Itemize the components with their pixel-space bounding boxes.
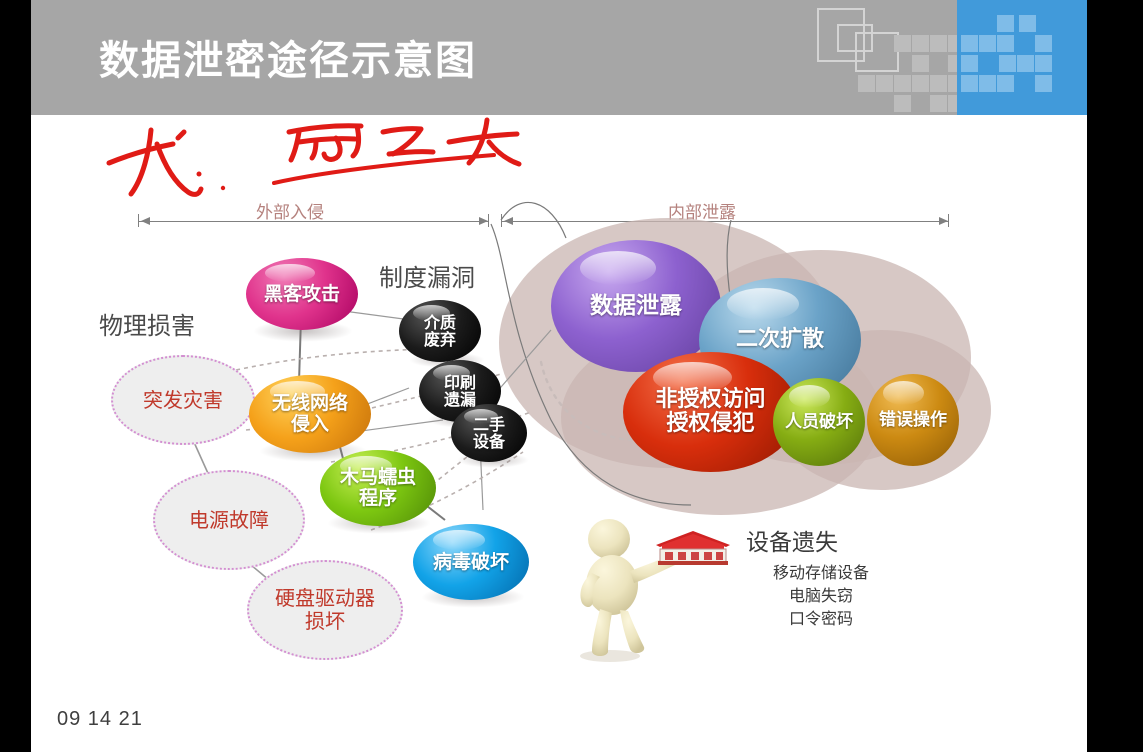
node-sudden-disaster-label: 突发灾害 [143, 389, 223, 412]
bubble-operation-error-label: 错误操作 [879, 411, 947, 429]
device-loss-group: 设备遗失 移动存储设备 电脑失窃 口令密码 [576, 505, 916, 665]
label-physical-damage: 物理损害 [99, 306, 195, 341]
bubble-print-leak-label: 印刷 遗漏 [444, 374, 476, 409]
node-power-failure[interactable]: 电源故障 [153, 470, 305, 570]
device-loss-item: 电脑失窃 [746, 584, 896, 607]
bubble-hacker-attack[interactable]: 黑客攻击 [246, 258, 358, 330]
bubble-trojan-worm-label: 木马蠕虫 程序 [340, 467, 416, 508]
bubble-media-disposal[interactable]: 介质 废弃 [399, 300, 481, 362]
slide-canvas: 数据泄密途径示意图 [31, 0, 1087, 752]
bubble-hacker-attack-label: 黑客攻击 [264, 284, 340, 305]
bubble-operation-error[interactable]: 错误操作 [867, 374, 959, 466]
bubble-personnel-sabotage-label: 人员破坏 [785, 413, 853, 431]
screen: 数据泄密途径示意图 [0, 0, 1143, 752]
node-hdd-failure-label: 硬盘驱动器 损坏 [275, 587, 375, 633]
node-sudden-disaster[interactable]: 突发灾害 [111, 355, 255, 445]
bubble-unauthorized-access-label: 非授权访问 授权侵犯 [655, 388, 765, 436]
bubble-second-hand-equipment-label: 二手 设备 [473, 416, 505, 451]
device-loss-title: 设备遗失 [746, 523, 838, 557]
bubble-media-disposal-label: 介质 废弃 [424, 314, 456, 349]
footer-timestamp: 09 14 21 [57, 708, 143, 731]
device-loss-item: 移动存储设备 [746, 561, 896, 584]
bubble-virus-damage[interactable]: 病毒破坏 [413, 524, 529, 600]
device-loss-item: 口令密码 [746, 607, 896, 630]
bubble-unauthorized-access[interactable]: 非授权访问 授权侵犯 [623, 352, 798, 472]
bubble-virus-damage-label: 病毒破坏 [433, 552, 509, 573]
bubble-personnel-sabotage[interactable]: 人员破坏 [773, 378, 865, 466]
bubble-secondary-spread-label: 二次扩散 [736, 328, 824, 352]
device-loss-list: 移动存储设备 电脑失窃 口令密码 [746, 561, 896, 631]
node-power-failure-label: 电源故障 [189, 509, 269, 532]
bubble-trojan-worm[interactable]: 木马蠕虫 程序 [320, 450, 436, 526]
label-policy-loophole: 制度漏洞 [379, 258, 475, 293]
bubble-wireless-intrusion[interactable]: 无线网络 侵入 [249, 375, 371, 453]
bubble-wireless-intrusion-label: 无线网络 侵入 [272, 393, 348, 434]
house-icon [648, 529, 738, 567]
bubble-second-hand-equipment[interactable]: 二手 设备 [451, 404, 527, 462]
node-hdd-failure[interactable]: 硬盘驱动器 损坏 [247, 560, 403, 660]
bubble-data-leak-label: 数据泄露 [590, 294, 682, 319]
